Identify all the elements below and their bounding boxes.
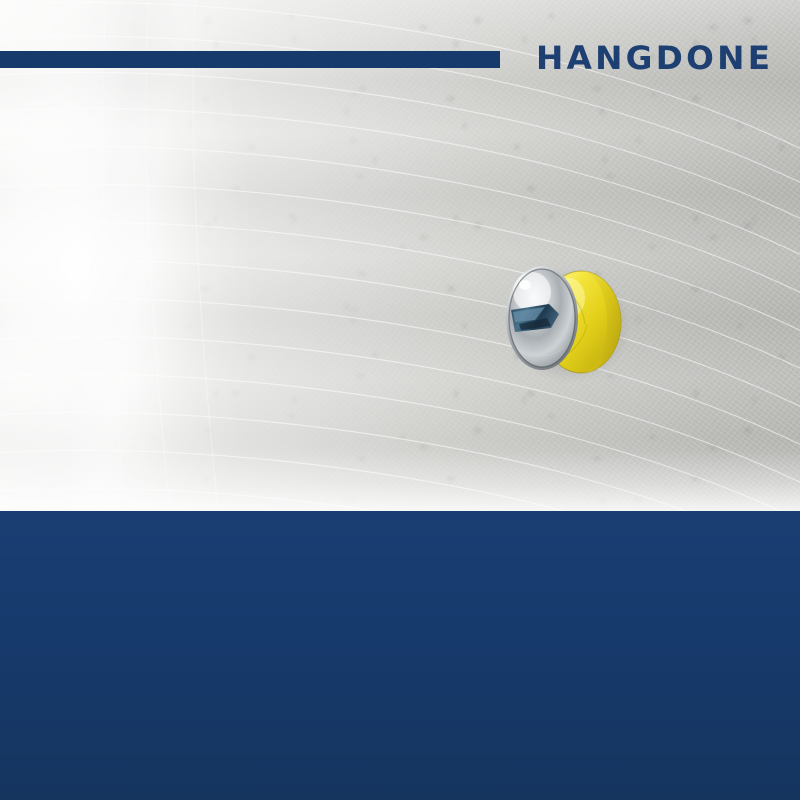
brand-logo: HANGDONE — [536, 40, 773, 76]
header-accent-rule — [0, 51, 500, 68]
screw-and-anchor-assembly — [495, 252, 635, 392]
product-banner: HANGDONE HIGHER FIXATION SUITABLE FOR VA… — [0, 0, 800, 800]
caption-panel: HIGHER FIXATION SUITABLE FOR VARIOUS TYP… — [0, 511, 800, 800]
photo-bottom-fade — [0, 451, 800, 511]
screw-head-icon — [506, 266, 578, 370]
